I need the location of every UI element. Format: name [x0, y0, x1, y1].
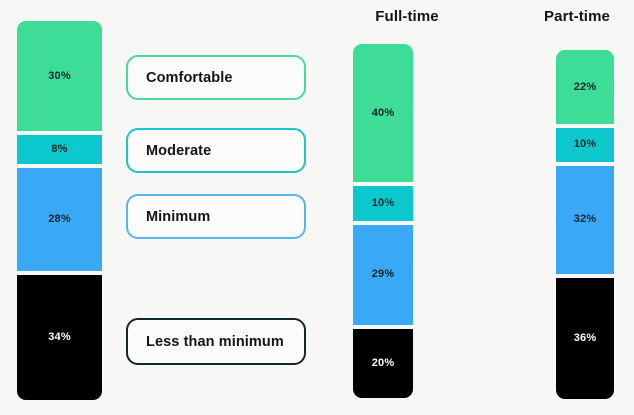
bar-segment-value-label: 34% [48, 332, 71, 343]
bar-segment: 20% [353, 329, 413, 398]
bar-segment: 8% [17, 135, 102, 164]
bar-segment-value-label: 20% [372, 358, 395, 369]
legend-item-label: Less than minimum [146, 334, 284, 350]
bar-segment-value-label: 10% [372, 198, 395, 209]
bar-segment: 30% [17, 21, 102, 131]
bar-segment: 22% [556, 50, 614, 124]
bar-segment: 10% [556, 128, 614, 162]
stacked-bar-fulltime: 40%10%29%20% [353, 44, 413, 398]
bar-segment-value-label: 29% [372, 269, 395, 280]
bar-segment-value-label: 36% [574, 333, 597, 344]
bar-segment-value-label: 8% [51, 144, 67, 155]
legend-item-less-than-minimum[interactable]: Less than minimum [126, 318, 306, 365]
bar-segment: 32% [556, 166, 614, 274]
legend-item-minimum[interactable]: Minimum [126, 194, 306, 239]
bar-segment-value-label: 30% [48, 71, 71, 82]
bar-segment-value-label: 40% [372, 108, 395, 119]
bar-segment: 40% [353, 44, 413, 182]
bar-segment: 36% [556, 278, 614, 399]
legend: Comfortable Moderate Minimum Less than m… [126, 21, 306, 400]
legend-item-label: Comfortable [146, 70, 233, 86]
bar-segment-value-label: 10% [574, 139, 597, 150]
bar-segment-value-label: 22% [574, 82, 597, 93]
column-header-fulltime: Full-time [330, 8, 484, 25]
bar-segment: 10% [353, 186, 413, 221]
bar-segment-value-label: 32% [574, 214, 597, 225]
stacked-bar-overall: 30%8%28%34% [17, 21, 102, 400]
legend-item-comfortable[interactable]: Comfortable [126, 55, 306, 100]
bar-segment: 28% [17, 168, 102, 271]
legend-item-label: Moderate [146, 143, 211, 159]
stacked-bar-parttime: 22%10%32%36% [556, 50, 614, 399]
legend-item-label: Minimum [146, 209, 210, 225]
bar-segment: 29% [353, 225, 413, 325]
chart-canvas: Full-time Part-time 30%8%28%34% Comforta… [0, 0, 634, 415]
legend-item-moderate[interactable]: Moderate [126, 128, 306, 173]
column-header-parttime: Part-time [520, 8, 634, 25]
bar-segment: 34% [17, 275, 102, 400]
bar-segment-value-label: 28% [48, 214, 71, 225]
